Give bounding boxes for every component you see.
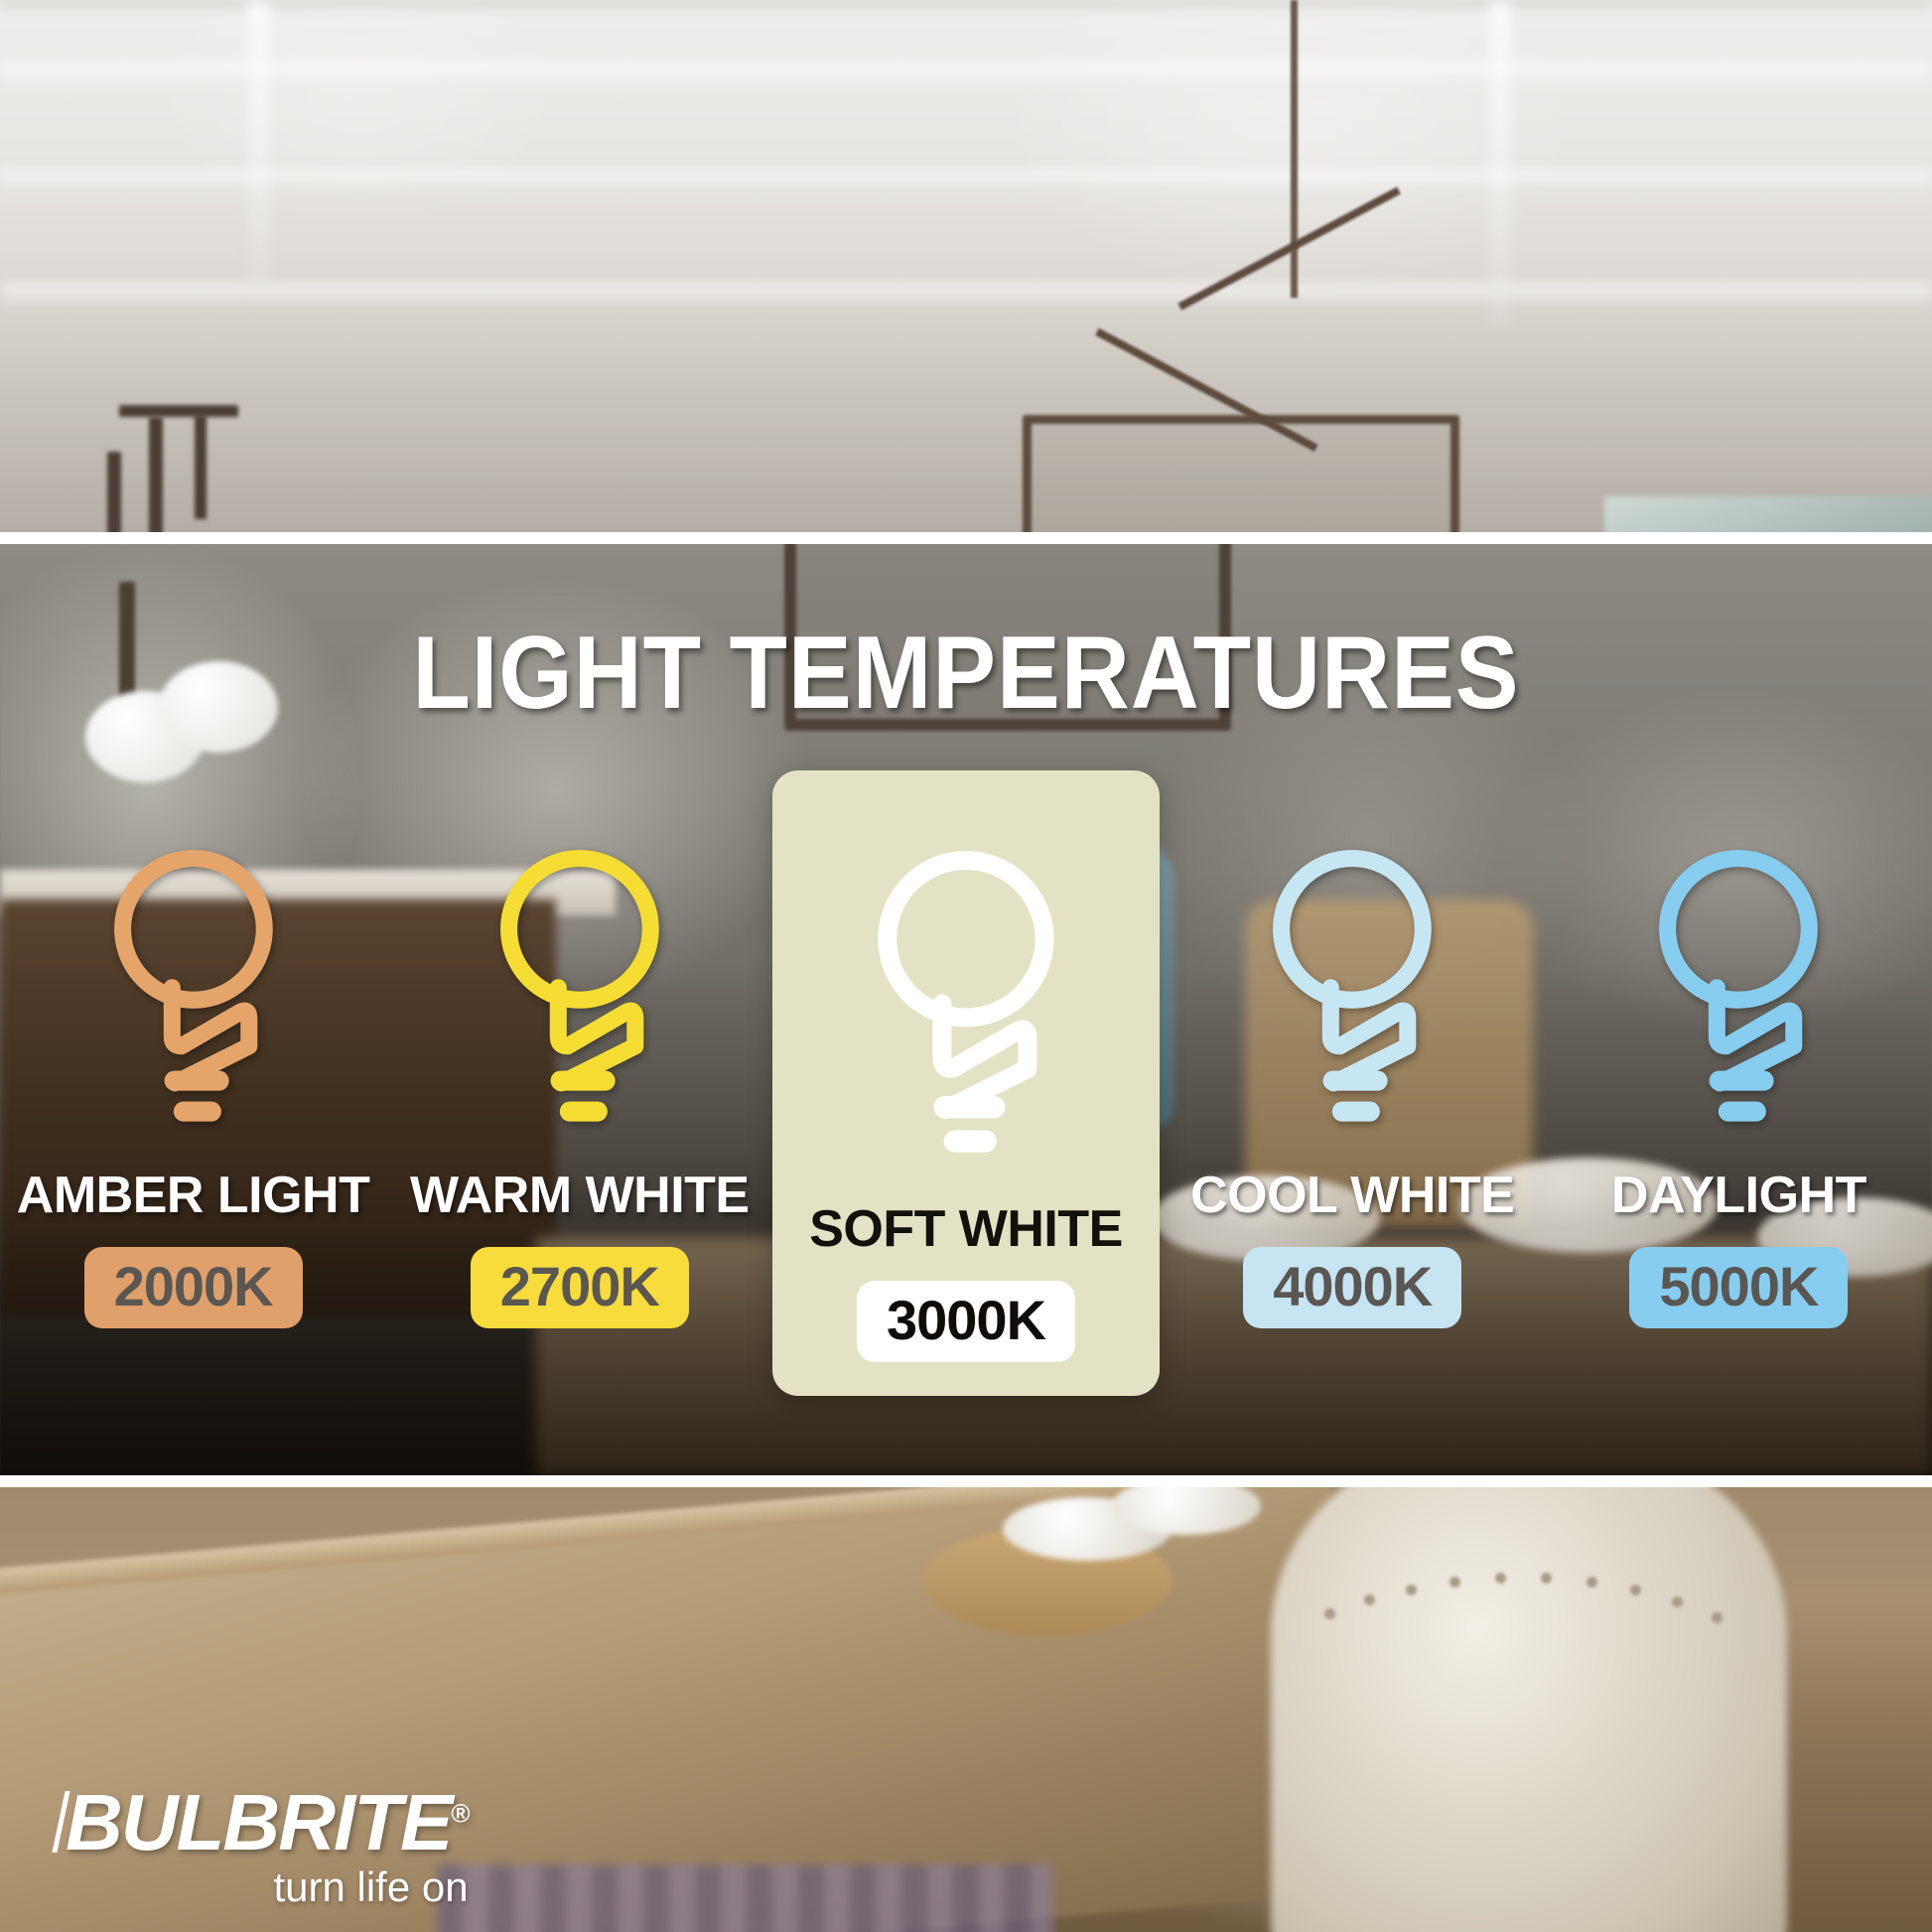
infographic-canvas: LIGHT TEMPERATURES AMBER LIGHT 2000K [0, 0, 1932, 1932]
kelvin-badge: 2000K [84, 1247, 303, 1328]
temperature-card-soft-white[interactable]: SOFT WHITE 3000K [772, 770, 1159, 1396]
temperature-label: SOFT WHITE [809, 1199, 1123, 1259]
top-photo-ceiling [0, 0, 1932, 536]
temperature-row: AMBER LIGHT 2000K WARM WHITE 2700K [0, 804, 1932, 1360]
temperature-label: WARM WHITE [410, 1166, 750, 1225]
temperature-label: COOL WHITE [1190, 1166, 1514, 1225]
logo-b-mark: BULBRITE [62, 1783, 451, 1863]
temperature-card-warm-white[interactable]: WARM WHITE 2700K [386, 804, 772, 1328]
divider-bottom [0, 1475, 1932, 1487]
temperature-card-cool-white[interactable]: COOL WHITE 4000K [1160, 804, 1546, 1328]
bulb-icon [833, 840, 1099, 1181]
bulb-icon [1244, 840, 1460, 1148]
kelvin-badge: 4000K [1243, 1247, 1461, 1328]
bulb-icon [85, 840, 302, 1148]
logo-tagline: turn life on [62, 1866, 469, 1908]
temperature-card-amber-light[interactable]: AMBER LIGHT 2000K [0, 804, 386, 1328]
bulb-icon [1630, 840, 1847, 1148]
logo-wordmark: BULBRITE® [62, 1783, 469, 1863]
temperature-card-daylight[interactable]: DAYLIGHT 5000K [1546, 804, 1932, 1328]
kelvin-badge: 2700K [471, 1247, 689, 1328]
registered-trademark-icon: ® [451, 1798, 468, 1828]
kelvin-badge: 3000K [857, 1281, 1075, 1362]
temperature-label: AMBER LIGHT [17, 1166, 370, 1225]
divider-top [0, 532, 1932, 544]
brand-logo: BULBRITE® turn life on [62, 1783, 469, 1908]
kelvin-badge: 5000K [1629, 1247, 1848, 1328]
page-title: LIGHT TEMPERATURES [77, 621, 1855, 725]
temperature-label: DAYLIGHT [1611, 1166, 1866, 1225]
bulb-icon [472, 840, 688, 1148]
